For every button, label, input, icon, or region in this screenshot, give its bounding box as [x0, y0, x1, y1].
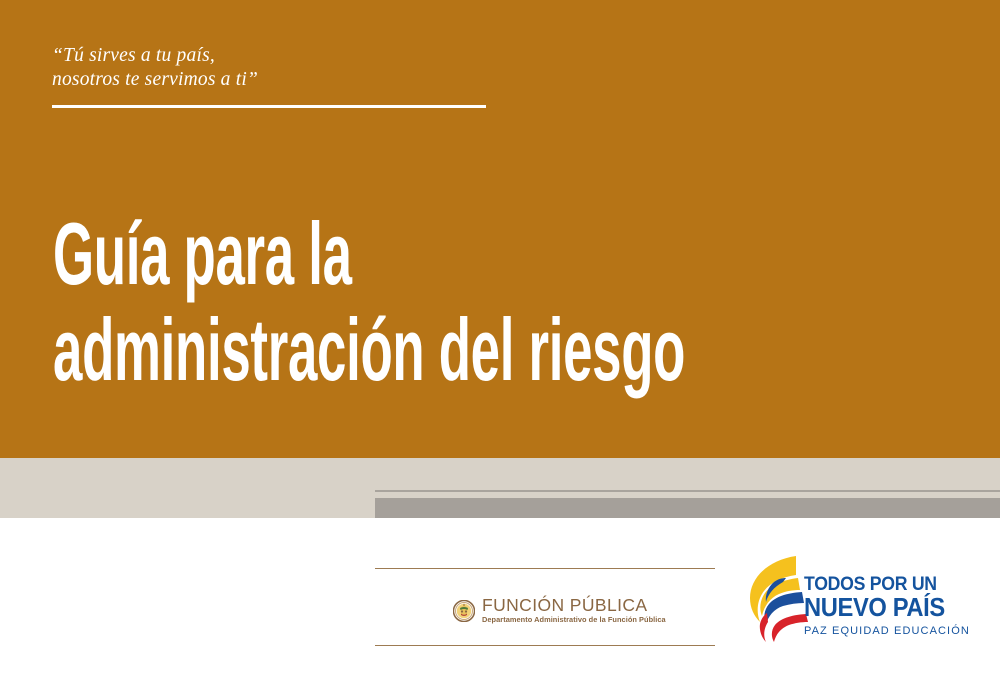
- funcion-publica-name: FUNCIÓN PÚBLICA: [482, 596, 666, 614]
- logo-line-nuevo-pais: NUEVO PAÍS: [804, 595, 958, 622]
- page-title-line-2: administración del riesgo: [53, 302, 593, 398]
- funcion-publica-logo: FUNCIÓN PÚBLICA Departamento Administrat…: [453, 596, 666, 625]
- todos-por-un-nuevo-pais-text: TODOS POR UN NUEVO PAÍS PAZ EQUIDAD EDUC…: [804, 574, 970, 638]
- hero-panel: “Tú sirves a tu país, nosotros te servim…: [0, 0, 1000, 458]
- funcion-publica-rule-bottom: [375, 645, 715, 646]
- funcion-publica-logo-block: FUNCIÓN PÚBLICA Departamento Administrat…: [375, 568, 715, 646]
- band-hairline-divider: [375, 490, 1000, 492]
- grey-band: [375, 498, 1000, 518]
- publication-cover: “Tú sirves a tu país, nosotros te servim…: [0, 0, 1000, 700]
- page-title: Guía para la administración del riesgo: [53, 206, 953, 398]
- logo-line-paz-equidad-educacion: PAZ EQUIDAD EDUCACIÓN: [804, 624, 970, 638]
- page-title-line-1: Guía para la: [53, 206, 593, 302]
- colombia-coat-of-arms-emblem-icon: [453, 600, 475, 622]
- funcion-publica-rule-top: [375, 568, 715, 569]
- funcion-publica-subtitle: Departamento Administrativo de la Funció…: [482, 615, 666, 625]
- tagline-divider: [52, 105, 486, 108]
- tagline-quote: “Tú sirves a tu país, nosotros te servim…: [52, 44, 572, 92]
- funcion-publica-text: FUNCIÓN PÚBLICA Departamento Administrat…: [482, 596, 666, 625]
- todos-por-un-nuevo-pais-logo: TODOS POR UN NUEVO PAÍS PAZ EQUIDAD EDUC…: [738, 552, 963, 650]
- logo-line-todos-por-un: TODOS POR UN: [804, 574, 958, 595]
